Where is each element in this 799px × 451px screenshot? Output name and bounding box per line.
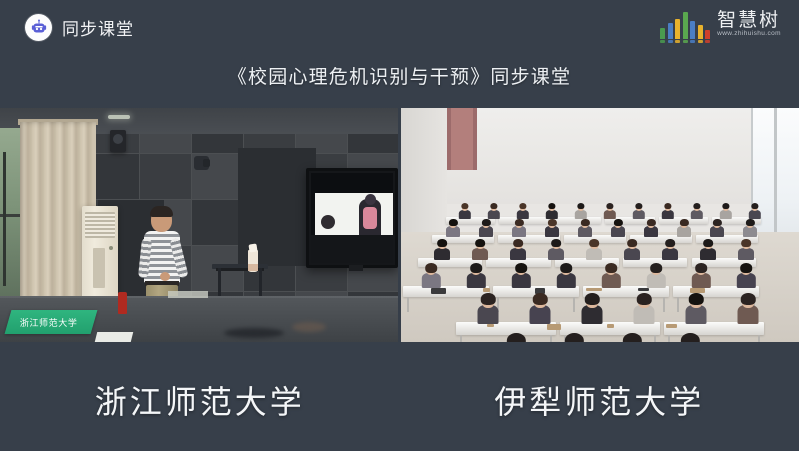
student-body [516, 210, 528, 219]
dual-video-stage: 浙江师范大学 [0, 108, 799, 342]
student [678, 220, 691, 237]
student-hair [740, 263, 752, 273]
student-body [548, 248, 564, 260]
student [663, 240, 677, 260]
site-overlay-banner: 浙江师范大学 [5, 310, 97, 334]
wall-camera-icon [194, 156, 209, 170]
student [558, 264, 575, 288]
student-body [446, 226, 460, 237]
student-body [510, 248, 526, 260]
student-body [602, 273, 620, 288]
desk-leg [663, 297, 665, 312]
wall-speaker [110, 130, 126, 152]
student-hair [548, 203, 555, 209]
platform-name: 智慧树 [717, 11, 780, 30]
wall-socket-strip [168, 291, 208, 298]
student [612, 220, 625, 237]
student-hair [751, 203, 758, 209]
student [711, 220, 724, 237]
student-hair [637, 293, 651, 305]
platform-logo: 智慧树 www.zhihuishu.com [660, 11, 781, 39]
student-body [661, 210, 673, 219]
student-body [719, 210, 731, 219]
student-body [677, 226, 691, 237]
student-hair [689, 293, 703, 305]
student-body [603, 210, 615, 219]
student-body [690, 210, 702, 219]
notebook-on-desk [586, 288, 602, 291]
student-hair [606, 203, 613, 209]
student [720, 204, 731, 219]
window-frame [3, 152, 6, 286]
student [468, 264, 485, 288]
acoustic-panel [192, 200, 243, 245]
student [513, 264, 530, 288]
student-hair [560, 263, 572, 273]
notebook-on-desk [487, 324, 494, 327]
student-hair [635, 203, 642, 209]
student-body [748, 210, 760, 219]
student-hair [695, 263, 707, 273]
student-hair [513, 239, 523, 247]
student [546, 204, 557, 219]
student-body [530, 305, 551, 324]
student-hair [623, 333, 641, 342]
site-captions: 浙江师范大学 伊犁师范大学 [0, 348, 799, 451]
ceiling-light [108, 115, 130, 119]
student-body [644, 226, 658, 237]
student [447, 220, 460, 237]
video-pane-classroom[interactable] [401, 108, 799, 342]
brand: 同步课堂 [25, 14, 134, 41]
student-body [586, 248, 602, 260]
logo-bar-6 [705, 30, 710, 39]
student-hair [605, 263, 617, 273]
student-body [647, 273, 665, 288]
remote-feed-person-head [365, 194, 376, 205]
logo-bar-3 [683, 12, 688, 39]
caption-right: 伊犁师范大学 [400, 348, 799, 451]
student-hair [746, 219, 754, 226]
student-body [472, 248, 488, 260]
student-body [458, 210, 470, 219]
desk-leg [677, 297, 679, 312]
phone-on-desk [431, 288, 446, 294]
notebook-on-desk [607, 324, 614, 328]
notebook-on-desk [666, 324, 676, 328]
caption-left: 浙江师范大学 [0, 348, 400, 451]
acoustic-panel [140, 154, 191, 199]
student-hair [680, 219, 688, 226]
student-hair [665, 239, 675, 247]
remote-feed-lower-band [311, 235, 393, 263]
student-body [686, 305, 707, 324]
student-hair [449, 219, 457, 226]
student [488, 204, 499, 219]
student [423, 264, 440, 288]
student-body [574, 210, 586, 219]
student [604, 204, 615, 219]
logo-bar-4 [690, 21, 695, 39]
student [739, 240, 753, 260]
student-body [743, 226, 757, 237]
student [603, 264, 620, 288]
student-hair [647, 219, 655, 226]
phone-on-desk [547, 324, 561, 330]
student-hair [470, 263, 482, 273]
student-body [692, 273, 710, 288]
student-body [611, 226, 625, 237]
student [583, 294, 602, 324]
student-hair [577, 203, 584, 209]
student-hair [614, 219, 622, 226]
app-header: 同步课堂 智慧树 www.zhihuishu.com [0, 0, 799, 54]
student [701, 240, 715, 260]
student [459, 204, 470, 219]
ac-panel [93, 248, 105, 288]
student-hair [481, 293, 495, 305]
brand-label: 同步课堂 [62, 15, 134, 40]
wall-display [306, 168, 398, 268]
paper-on-floor [95, 332, 133, 342]
student [744, 220, 757, 237]
student-body [467, 273, 485, 288]
student [563, 334, 586, 342]
student-body [512, 273, 530, 288]
student [513, 220, 526, 237]
student-hair [533, 293, 547, 305]
desk-leg [758, 335, 760, 342]
student [621, 334, 644, 342]
student [587, 240, 601, 260]
student [625, 240, 639, 260]
remote-feed-foreground [321, 215, 335, 229]
student [662, 204, 673, 219]
student [635, 294, 654, 324]
student-hair [475, 239, 485, 247]
student-body [479, 226, 493, 237]
student [738, 264, 755, 288]
student-hair [713, 219, 721, 226]
student [648, 264, 665, 288]
student-hair [482, 219, 490, 226]
student [505, 334, 528, 342]
phone-on-desk [638, 288, 649, 291]
student-hair [515, 263, 527, 273]
desk-leg [573, 297, 575, 312]
display-mount [349, 265, 363, 271]
student-body [434, 248, 450, 260]
classroom-scene [401, 108, 799, 342]
logo-bar-1 [668, 23, 673, 39]
drink-cup-band [248, 264, 258, 271]
logo-bar-5 [698, 25, 703, 39]
student-hair [507, 333, 525, 342]
instructor-hair [150, 206, 173, 217]
student-hair [681, 333, 699, 342]
student-body [662, 248, 678, 260]
ac-led [109, 246, 113, 250]
student-rows [401, 108, 799, 342]
student [473, 240, 487, 260]
page-title: 《校园心理危机识别与干预》同步课堂 [0, 62, 799, 89]
student [739, 294, 758, 324]
student-body [422, 273, 440, 288]
floor-object-shadow [292, 322, 326, 332]
student [517, 204, 528, 219]
platform-url: www.zhihuishu.com [717, 31, 781, 38]
student-body [545, 210, 557, 219]
site-overlay-banner-label: 浙江师范大学 [20, 316, 78, 329]
student-body [557, 273, 575, 288]
wall-display-screen [311, 173, 393, 263]
student [546, 220, 559, 237]
student [480, 220, 493, 237]
student-hair [664, 203, 671, 209]
student [691, 204, 702, 219]
student-hair [551, 239, 561, 247]
student-hair [515, 219, 523, 226]
student [511, 240, 525, 260]
student-body [700, 248, 716, 260]
student [693, 264, 710, 288]
student-hair [627, 239, 637, 247]
desk-leg [460, 335, 462, 342]
student-body [737, 273, 755, 288]
logo-bar-2 [675, 19, 680, 39]
student [549, 240, 563, 260]
student [645, 220, 658, 237]
student-body [478, 305, 499, 324]
student-body [624, 248, 640, 260]
student-hair [461, 203, 468, 209]
desk-leg [407, 297, 409, 312]
student-hair [722, 203, 729, 209]
student-body [512, 226, 526, 237]
student [749, 204, 760, 219]
student-hair [437, 239, 447, 247]
student [575, 204, 586, 219]
student-body [710, 226, 724, 237]
student-hair [581, 219, 589, 226]
video-pane-lecturer[interactable]: 浙江师范大学 [0, 108, 398, 342]
student-body [632, 210, 644, 219]
student [679, 334, 702, 342]
student [633, 204, 644, 219]
student-body [487, 210, 499, 219]
owl-mascot-icon [25, 14, 52, 41]
student-body [545, 226, 559, 237]
student [579, 220, 592, 237]
instructor-hand [160, 272, 170, 281]
student-hair [703, 239, 713, 247]
student-hair [650, 263, 662, 273]
student-body [738, 305, 759, 324]
student-hair [565, 333, 583, 342]
desk-leg [654, 335, 656, 342]
student-hair [741, 239, 751, 247]
student-hair [693, 203, 700, 209]
student [531, 294, 550, 324]
ac-grill [85, 212, 115, 238]
student-hair [425, 263, 437, 273]
student [479, 294, 498, 324]
student-hair [548, 219, 556, 226]
student-hair [490, 203, 497, 209]
desk-leg [668, 335, 670, 342]
lecture-room-scene: 浙江师范大学 [0, 108, 398, 342]
student-hair [589, 239, 599, 247]
student-hair [519, 203, 526, 209]
bar-chart-logo-icon [660, 12, 710, 39]
phone-on-desk [483, 288, 490, 292]
student-body [578, 226, 592, 237]
student-body [634, 305, 655, 324]
cart-shadow [224, 328, 284, 338]
student [435, 240, 449, 260]
logo-bar-0 [660, 28, 665, 39]
student-hair [585, 293, 599, 305]
student-body [738, 248, 754, 260]
student-hair [741, 293, 755, 305]
student [687, 294, 706, 324]
student-body [582, 305, 603, 324]
remote-feed-person-shirt [363, 207, 377, 229]
fire-extinguisher [118, 292, 127, 314]
desk-leg [550, 335, 552, 342]
